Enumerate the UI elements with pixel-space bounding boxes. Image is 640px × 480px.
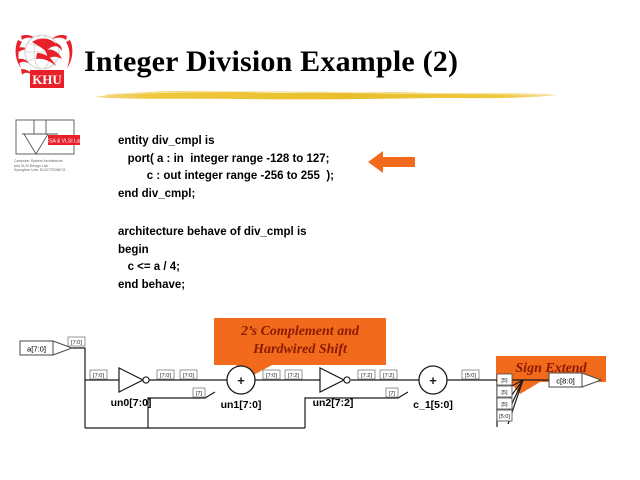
page-title: Integer Division Example (2) (84, 45, 584, 79)
lab-logo-caption: Computer System Architecture and VLSI De… (14, 159, 90, 173)
schematic-diagram: a[7:0] un0[7:0] + un1[7:0] un2[7:2] (0, 330, 640, 460)
schematic-gate-un2: un2[7:2] (313, 368, 354, 409)
schematic-bus-se-4: [5:0] (499, 414, 510, 420)
schematic-bus-un2-out: [7:2] (361, 373, 372, 379)
schematic-bus-se-2: [5] (501, 390, 508, 396)
schematic-gate-un0-label: un0[7:0] (111, 397, 152, 409)
lab-logo: CSA & VLSI Lab (14, 118, 86, 184)
schematic-gate-c1-label: c_1[5:0] (413, 399, 453, 411)
schematic-bus-c1-out: [5:0] (465, 373, 476, 379)
schematic-gate-c1-symbol: + (429, 373, 437, 388)
title-underline-brushstroke (92, 88, 560, 102)
schematic-output-port-c: c[8:0] (549, 373, 601, 387)
lab-logo-badge-text: CSA & VLSI Lab (46, 139, 83, 145)
schematic-bus-a-out: [7:0] (71, 340, 82, 346)
khu-logo: KHU (12, 26, 76, 92)
schematic-gate-un0: un0[7:0] (111, 368, 152, 409)
vhdl-architecture-block: architecture behave of div_cmpl is begin… (118, 224, 408, 294)
schematic-bus-se-1: [5] (501, 378, 508, 384)
schematic-bus-un0-in: [7:0] (93, 373, 104, 379)
khu-nameplate: KHU (30, 70, 64, 88)
schematic-output-port-label: c[8:0] (556, 377, 575, 386)
khu-logo-text: KHU (32, 72, 62, 87)
schematic-bus-un1-out: [7:0] (266, 373, 277, 379)
schematic-wires (72, 348, 549, 428)
schematic-bus-c1-in-a: [7:2] (383, 373, 394, 379)
vhdl-entity-block: entity div_cmpl is port( a : in integer … (118, 133, 408, 203)
schematic-bus-un0-out: [7:0] (160, 373, 171, 379)
schematic-bus-tags: [7:0] [7:0] [7:0] [7:0] [7] (68, 337, 479, 397)
schematic-bus-se-3: [5] (501, 402, 508, 408)
schematic-input-port-label: a[7:0] (27, 345, 46, 354)
slide-canvas: KHU Integer Division Example (2) (0, 0, 640, 480)
schematic-gate-un1-symbol: + (237, 373, 245, 388)
schematic-gate-un1: + un1[7:0] (221, 366, 262, 411)
schematic-gate-c1: + c_1[5:0] (413, 366, 453, 411)
schematic-bus-un1-carry: [7] (196, 391, 203, 397)
lab-caption-line-3: Kyunghee Univ. ELECTRONICS (14, 168, 90, 173)
schematic-bus-un2-in: [7:2] (288, 373, 299, 379)
schematic-bus-un1-in-a: [7:0] (183, 373, 194, 379)
schematic-bus-c1-carry: [7] (389, 391, 396, 397)
left-arrow-icon (368, 148, 416, 176)
schematic-gate-un2-label: un2[7:2] (313, 397, 354, 409)
schematic-gate-un1-label: un1[7:0] (221, 399, 262, 411)
schematic-input-port-a: a[7:0] (20, 341, 72, 355)
